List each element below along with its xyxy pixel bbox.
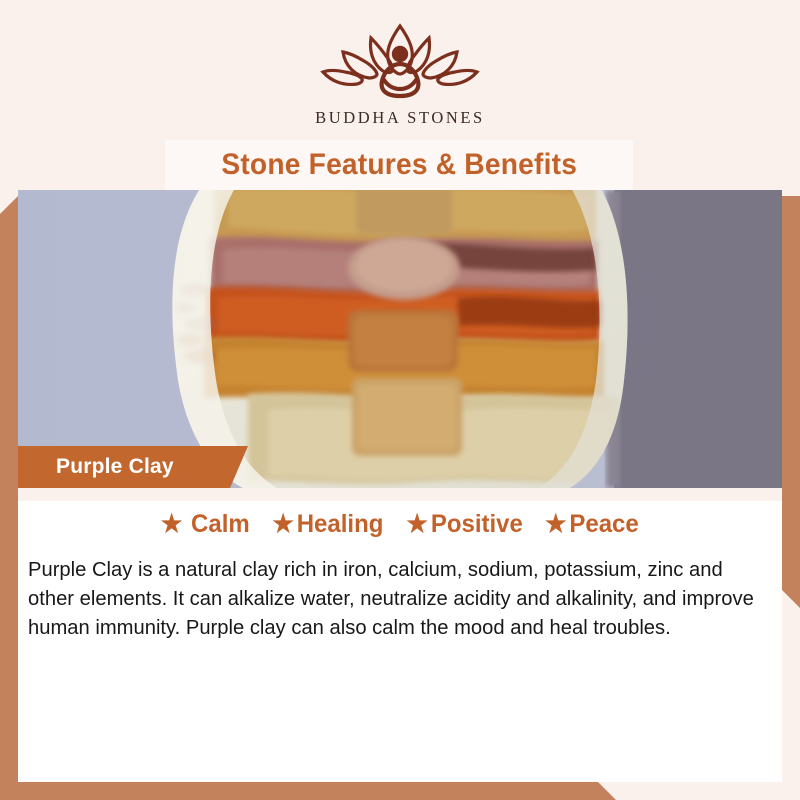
benefits-row: ★ Calm ★ Healing ★ Positive ★ Peace	[18, 510, 782, 539]
benefit-item-positive: ★ Positive	[406, 510, 522, 539]
benefit-label: Healing	[297, 510, 384, 539]
content-top-stripe	[18, 488, 782, 501]
stone-name-label: Purple Clay	[56, 455, 174, 479]
star-icon: ★	[272, 512, 294, 537]
star-icon: ★	[545, 512, 567, 537]
benefit-label: Peace	[569, 510, 638, 539]
benefit-label: Positive	[430, 510, 522, 539]
benefit-item-calm: ★ Calm	[161, 510, 250, 539]
brand-name: BUDDHA STONES	[315, 108, 485, 128]
benefit-label: Calm	[191, 510, 250, 539]
page-title-banner: Stone Features & Benefits	[165, 140, 633, 190]
lotus-meditation-icon	[315, 18, 485, 104]
frame-border-left	[0, 196, 18, 800]
hero-image	[18, 190, 782, 488]
benefit-item-peace: ★ Peace	[545, 510, 639, 539]
benefit-item-healing: ★ Healing	[272, 510, 383, 539]
page-title: Stone Features & Benefits	[221, 148, 577, 182]
brand-logo: BUDDHA STONES	[0, 18, 800, 128]
description-text: Purple Clay is a natural clay rich in ir…	[28, 555, 759, 642]
frame-border-bottom-left	[0, 782, 616, 800]
content-panel: ★ Calm ★ Healing ★ Positive ★ Peace Purp…	[18, 488, 782, 782]
star-icon: ★	[406, 512, 428, 537]
stone-name-tag: Purple Clay	[18, 446, 248, 488]
star-icon: ★	[161, 512, 183, 537]
